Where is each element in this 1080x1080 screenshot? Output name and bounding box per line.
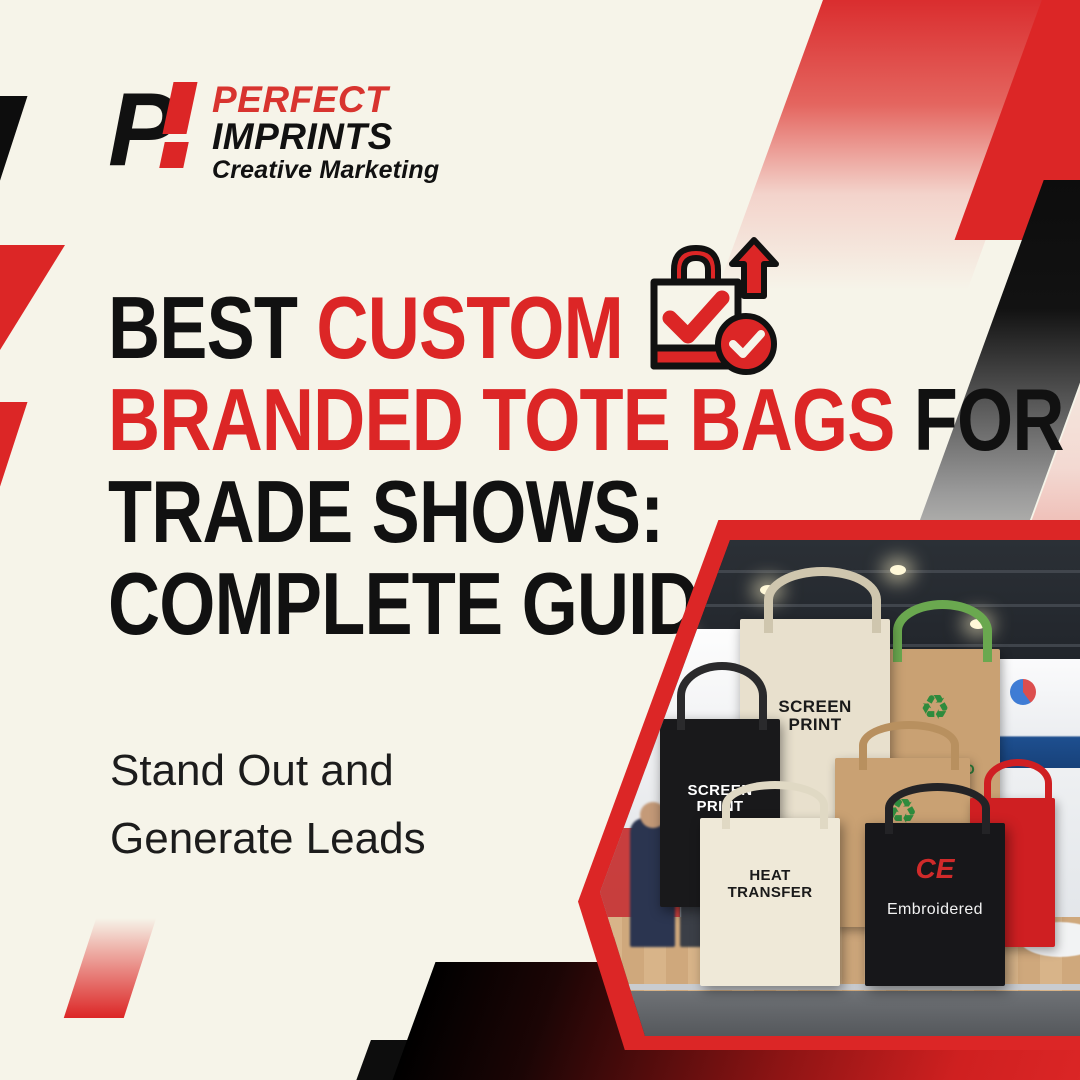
logo-tagline: Creative Marketing — [212, 156, 439, 184]
headline-line-2: BRANDED TOTE BAGS FOR — [108, 374, 830, 466]
headline-seg-for: FOR — [914, 370, 1064, 469]
headline-seg-custom: CUSTOM — [316, 278, 622, 377]
headline-seg-branded-tote-bags: BRANDED TOTE BAGS — [108, 370, 914, 469]
tote-label: HEAT TRANSFER — [700, 868, 840, 900]
left-red-triangle — [0, 245, 65, 365]
poster-canvas: P PERFECT IMPRINTS Creative Marketing — [0, 0, 1080, 1080]
logo-wordmark: PERFECT IMPRINTS Creative Marketing — [212, 78, 439, 184]
tote-label: Embroidered — [865, 901, 1005, 918]
top-left-black-sliver — [0, 96, 27, 216]
tote-label-line2: PRINT — [789, 715, 842, 734]
tote-handle — [764, 567, 881, 633]
brand-logo[interactable]: P PERFECT IMPRINTS Creative Marketing — [108, 78, 439, 184]
monogram-exclamation-dot — [159, 142, 189, 168]
tote-label-line2: TRANSFER — [728, 884, 813, 901]
headline-seg-best: BEST — [108, 278, 316, 377]
tote-heat-transfer: HEAT TRANSFER — [700, 818, 840, 987]
photo-carpet-floor — [600, 991, 1080, 1036]
photo-booth-logo-icon — [1010, 679, 1036, 705]
p-bang-monogram-icon: P — [108, 78, 200, 182]
tote-label-line1: HEAT — [749, 867, 790, 884]
tote-handle — [859, 721, 959, 769]
top-right-solid-red-band — [955, 0, 1080, 240]
tote-label-line1: SCREEN — [778, 697, 851, 716]
logo-line-imprints: IMPRINTS — [212, 118, 439, 156]
bottom-left-red-gradient-bar — [64, 918, 156, 1018]
embroidered-emblem-icon: CE — [865, 855, 1005, 883]
tote-handle — [984, 759, 1052, 808]
left-red-sliver — [0, 402, 27, 522]
tote-handle — [722, 781, 828, 829]
subtitle-line-2: Generate Leads — [110, 805, 426, 873]
tote-handle — [885, 783, 991, 834]
headline-line-1: BEST CUSTOM — [108, 282, 830, 374]
tote-handle — [677, 662, 767, 730]
tote-handle — [893, 600, 992, 662]
tote-embroidered: CE Embroidered — [865, 823, 1005, 987]
subtitle-line-1: Stand Out and — [110, 737, 426, 805]
logo-line-perfect: PERFECT — [212, 82, 439, 118]
page-subtitle: Stand Out and Generate Leads — [110, 737, 426, 873]
bottom-black-sliver — [349, 1040, 431, 1080]
